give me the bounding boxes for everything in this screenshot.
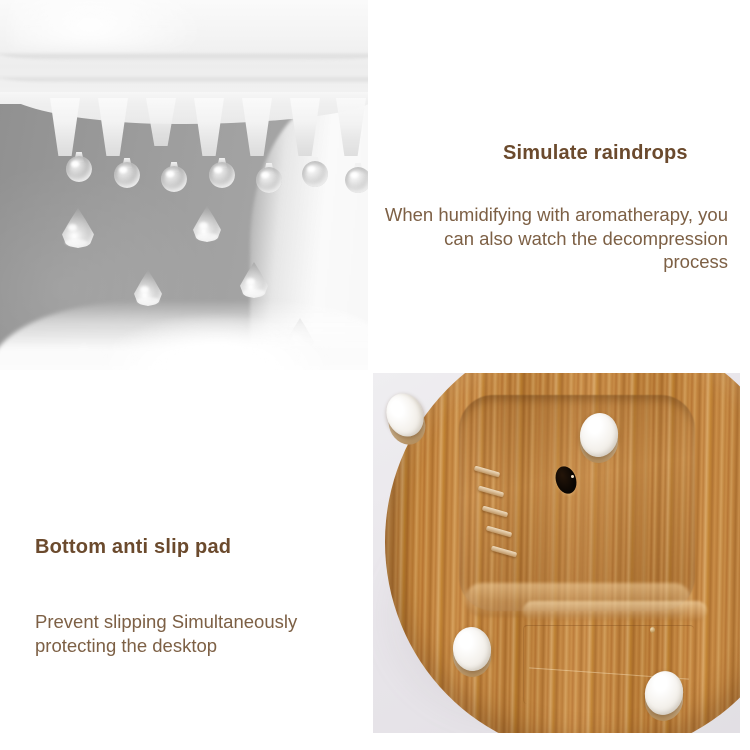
water-pool-highlight [96, 314, 336, 370]
hanging-droplet [209, 158, 235, 188]
droplet-rim [65, 239, 87, 246]
droplet-highlight [261, 172, 269, 178]
rim-tooth [242, 98, 272, 156]
droplet-highlight [68, 224, 77, 231]
raindrops-description: When humidifying with aromatherapy, you … [383, 203, 728, 274]
droplet-bulb [302, 161, 328, 187]
wooden-base-photo [373, 373, 740, 733]
droplet-rim [243, 289, 265, 296]
antislip-heading: Bottom anti slip pad [35, 536, 231, 559]
drain-hole-glint [571, 475, 574, 478]
antislip-description: Prevent slipping Simultaneously protecti… [35, 610, 355, 657]
serrated-teeth-row [0, 98, 368, 160]
hanging-droplet [302, 157, 328, 187]
rim-band-lower [0, 76, 368, 83]
droplet-bulb [161, 166, 187, 192]
cavity-ridge-secondary [523, 601, 707, 621]
feature-collage: Simulate raindrops When humidifying with… [0, 0, 750, 750]
droplet-highlight [214, 167, 222, 173]
droplet-highlight [71, 161, 79, 167]
hanging-droplet [161, 162, 187, 192]
droplet-bulb [209, 162, 235, 188]
hanging-droplet [256, 163, 282, 193]
rim-highlight [10, 0, 210, 50]
rim-tooth [336, 98, 366, 156]
water-droplets-photo [0, 0, 368, 370]
rim-tooth [194, 98, 224, 156]
droplet-bulb [256, 167, 282, 193]
droplet-highlight [307, 166, 315, 172]
rim-tooth [98, 98, 128, 156]
falling-droplet [193, 206, 221, 242]
droplet-highlight [119, 167, 127, 173]
falling-droplet [62, 208, 94, 248]
hanging-droplet [345, 163, 368, 193]
droplet-bulb [66, 156, 92, 182]
droplet-bulb [345, 167, 368, 193]
droplet-highlight [246, 278, 255, 285]
rim-tooth [290, 98, 320, 156]
falling-droplet [240, 262, 268, 298]
hanging-droplet [114, 158, 140, 188]
hanging-droplet [66, 152, 92, 182]
rim-tooth [146, 98, 176, 146]
droplet-highlight [199, 222, 208, 229]
raindrops-heading: Simulate raindrops [503, 142, 688, 165]
screw-head [650, 627, 655, 633]
droplet-rim [196, 233, 218, 240]
droplet-highlight [350, 172, 358, 178]
rim-band-upper [0, 52, 368, 61]
droplet-bulb [114, 162, 140, 188]
droplet-highlight [166, 171, 174, 177]
recessed-cavity [459, 395, 695, 611]
droplet-highlight [140, 286, 149, 293]
rim-tooth [50, 98, 80, 156]
